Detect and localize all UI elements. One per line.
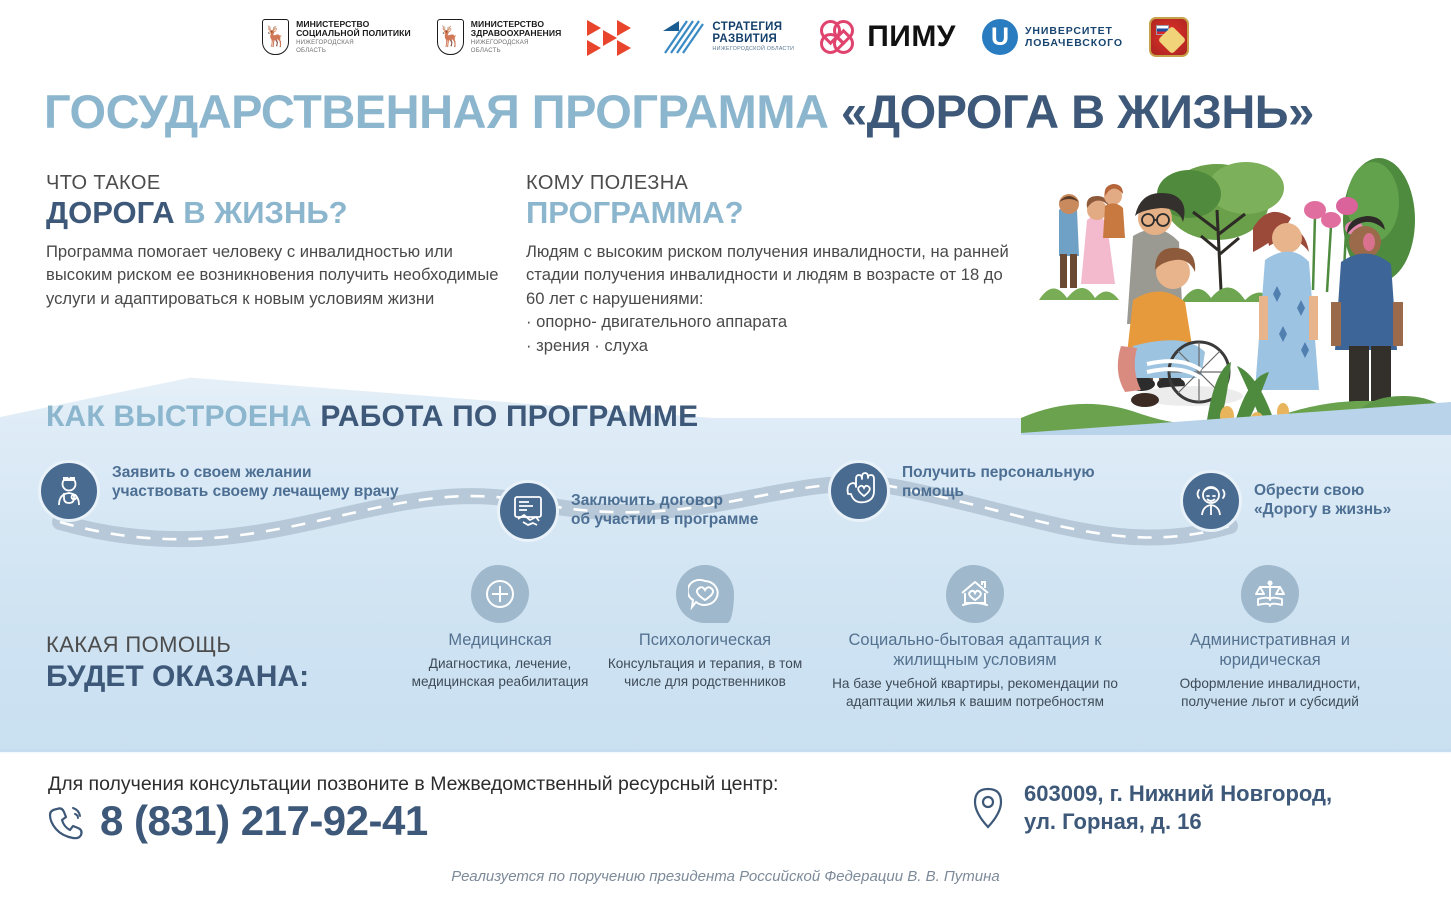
process-step-label: Заключить договор об участии в программе [571, 492, 758, 530]
logo-lobachevsky-university: U УНИВЕРСИТЕТ ЛОБАЧЕВСКОГО [982, 19, 1123, 55]
process-step-3[interactable]: Получить персональную помощь [828, 460, 1095, 522]
medical-cross-icon [471, 565, 529, 623]
step-label-line2: об участии в программе [571, 511, 758, 530]
logo-ministry-social-policy: 🦌 МИНИСТЕРСТВО СОЦИАЛЬНОЙ ПОЛИТИКИ НИЖЕГ… [262, 19, 411, 55]
footer-address-row: 603009, г. Нижний Новгород, ул. Горная, … [968, 780, 1332, 835]
footer-lead-text: Для получения консультации позвоните в М… [48, 773, 778, 796]
footer-note: Реализуется по поручению президента Росс… [0, 868, 1451, 885]
strategy-mark-icon [659, 19, 705, 55]
intro-body: Программа помогает человеку с инвалиднос… [46, 240, 516, 311]
help-card-desc: Консультация и терапия, в том числе для … [606, 655, 804, 691]
logo-sub2: ОБЛАСТЬ [296, 48, 411, 55]
intro-bullet-1: · опорно- двигательного аппарата [526, 310, 1016, 334]
logo-ministry-health: 🦌 МИНИСТЕРСТВО ЗДРАВООХРАНЕНИЯ НИЖЕГОРОД… [437, 19, 562, 55]
page-title-light: ГОСУДАРСТВЕННАЯ ПРОГРАММА [44, 85, 828, 138]
help-card-psychological[interactable]: Психологическая Консультация и терапия, … [600, 565, 810, 691]
help-card-desc: Диагностика, лечение, медицинская реабил… [406, 655, 594, 691]
address-line-1: 603009, г. Нижний Новгород, [1024, 780, 1332, 808]
process-title-light: КАК ВЫСТРОЕНА [46, 400, 312, 433]
step-label-line1: Обрести свою [1254, 482, 1391, 501]
deer-crest-icon: 🦌 [262, 19, 289, 55]
deer-crest-icon: 🦌 [437, 19, 464, 55]
location-pin-icon [968, 785, 1008, 831]
logo-state-emblem [1149, 17, 1189, 57]
logo-line2: ЗДРАВООХРАНЕНИЯ [471, 29, 562, 39]
page-title: ГОСУДАРСТВЕННАЯ ПРОГРАММА «ДОРОГА В ЖИЗН… [44, 88, 1424, 135]
logo-line2: СОЦИАЛЬНОЙ ПОЛИТИКИ [296, 29, 411, 39]
logo-pimu: ПИМУ [820, 19, 956, 55]
intro-heading: ПРОГРАММА? [526, 196, 1016, 231]
logo-line2: ЛОБАЧЕВСКОГО [1025, 37, 1123, 49]
infographic-poster: 🦌 МИНИСТЕРСТВО СОЦИАЛЬНОЙ ПОЛИТИКИ НИЖЕГ… [0, 0, 1451, 900]
help-card-title: Административная и юридическая [1146, 631, 1394, 671]
park-people-illustration [1021, 150, 1451, 435]
footer-divider [0, 749, 1451, 754]
help-kicker: КАКАЯ ПОМОЩЬ [46, 632, 309, 658]
help-section-title: КАКАЯ ПОМОЩЬ БУДЕТ ОКАЗАНА: [46, 632, 309, 694]
logo-sub1: НИЖЕГОРОДСКАЯ [296, 40, 411, 47]
contract-handshake-icon [497, 480, 559, 542]
scales-book-icon [1241, 565, 1299, 623]
intro-heading: ДОРОГА В ЖИЗНЬ? [46, 196, 516, 231]
logo-strategy-development: СТРАТЕГИЯ РАЗВИТИЯ НИЖЕГОРОДСКОЙ ОБЛАСТИ [659, 19, 794, 55]
pimu-hearts-icon [820, 19, 860, 55]
intro-kicker: КОМУ ПОЛЕЗНА [526, 172, 1016, 195]
help-card-title: Медицинская [406, 631, 594, 651]
intro-bullet-2: · зрения · слуха [526, 334, 1016, 358]
logo-word: ПИМУ [867, 20, 956, 54]
intro-block-what-is: ЧТО ТАКОЕ ДОРОГА В ЖИЗНЬ? Программа помо… [46, 172, 516, 310]
red-triangles-icon [587, 18, 633, 56]
help-card-title: Социально-бытовая адаптация к жилищным у… [816, 631, 1134, 671]
help-heading: БУДЕТ ОКАЗАНА: [46, 660, 309, 694]
logo-line1: УНИВЕРСИТЕТ [1025, 25, 1123, 37]
process-step-label: Получить персональную помощь [902, 464, 1095, 502]
step-label-line2: участвовать своему лечащему врачу [112, 483, 399, 502]
help-cards: Медицинская Диагностика, лечение, медици… [400, 565, 1430, 711]
page-title-dark: «ДОРОГА В ЖИЗНЬ» [841, 85, 1314, 138]
step-label-line2: «Дорогу в жизнь» [1254, 501, 1391, 520]
footer-address: 603009, г. Нижний Новгород, ул. Горная, … [1024, 780, 1332, 835]
step-label-line1: Получить персональную [902, 464, 1095, 483]
process-step-2[interactable]: Заключить договор об участии в программе [497, 480, 758, 542]
unn-u-icon: U [982, 19, 1018, 55]
intro-heading-light: В ЖИЗНЬ? [183, 195, 347, 230]
process-step-4[interactable]: Обрести свою «Дорогу в жизнь» [1180, 470, 1391, 532]
intro-heading-light: ПРОГРАММА? [526, 195, 744, 230]
intro-block-who-benefits: КОМУ ПОЛЕЗНА ПРОГРАММА? Людям с высоким … [526, 172, 1016, 358]
address-line-2: ул. Горная, д. 16 [1024, 808, 1332, 836]
logo-line2: РАЗВИТИЯ [712, 33, 794, 45]
process-step-label: Обрести свою «Дорогу в жизнь» [1254, 482, 1391, 520]
help-card-legal[interactable]: Административная и юридическая Оформлени… [1140, 565, 1400, 711]
step-label-line1: Заявить о своем желании [112, 464, 399, 483]
footer-phone-number[interactable]: 8 (831) 217-92-41 [100, 800, 428, 842]
happy-person-icon [1180, 470, 1242, 532]
help-card-medical[interactable]: Медицинская Диагностика, лечение, медици… [400, 565, 600, 691]
phone-icon [46, 801, 86, 841]
logo-line1: СТРАТЕГИЯ [712, 21, 794, 33]
logo-sub2: ОБЛАСТЬ [471, 48, 562, 55]
help-card-desc: Оформление инвалидности, получение льгот… [1146, 675, 1394, 711]
heart-chat-icon [676, 565, 734, 623]
intro-kicker: ЧТО ТАКОЕ [46, 172, 516, 195]
logo-bar: 🦌 МИНИСТЕРСТВО СОЦИАЛЬНОЙ ПОЛИТИКИ НИЖЕГ… [0, 8, 1451, 66]
footer-phone-row[interactable]: 8 (831) 217-92-41 [46, 800, 428, 842]
home-heart-icon [946, 565, 1004, 623]
logo-sub1: НИЖЕГОРОДСКАЯ [471, 40, 562, 47]
help-card-title: Психологическая [606, 631, 804, 651]
logo-sub1: НИЖЕГОРОДСКОЙ ОБЛАСТИ [712, 47, 794, 53]
process-step-label: Заявить о своем желании участвовать свое… [112, 464, 399, 502]
step-label-line2: помощь [902, 483, 1095, 502]
help-card-social-adaptation[interactable]: Социально-бытовая адаптация к жилищным у… [810, 565, 1140, 711]
help-card-desc: На базе учебной квартиры, рекомендации п… [816, 675, 1134, 711]
intro-heading-dark: ДОРОГА [46, 195, 175, 230]
process-title-dark: РАБОТА ПО ПРОГРАММЕ [320, 400, 698, 433]
doctor-icon [38, 460, 100, 522]
intro-body: Людям с высоким риском получения инвалид… [526, 240, 1016, 311]
helping-hand-heart-icon [828, 460, 890, 522]
process-step-1[interactable]: Заявить о своем желании участвовать свое… [38, 460, 399, 522]
process-section-title: КАК ВЫСТРОЕНА РАБОТА ПО ПРОГРАММЕ [46, 400, 698, 434]
step-label-line1: Заключить договор [571, 492, 758, 511]
